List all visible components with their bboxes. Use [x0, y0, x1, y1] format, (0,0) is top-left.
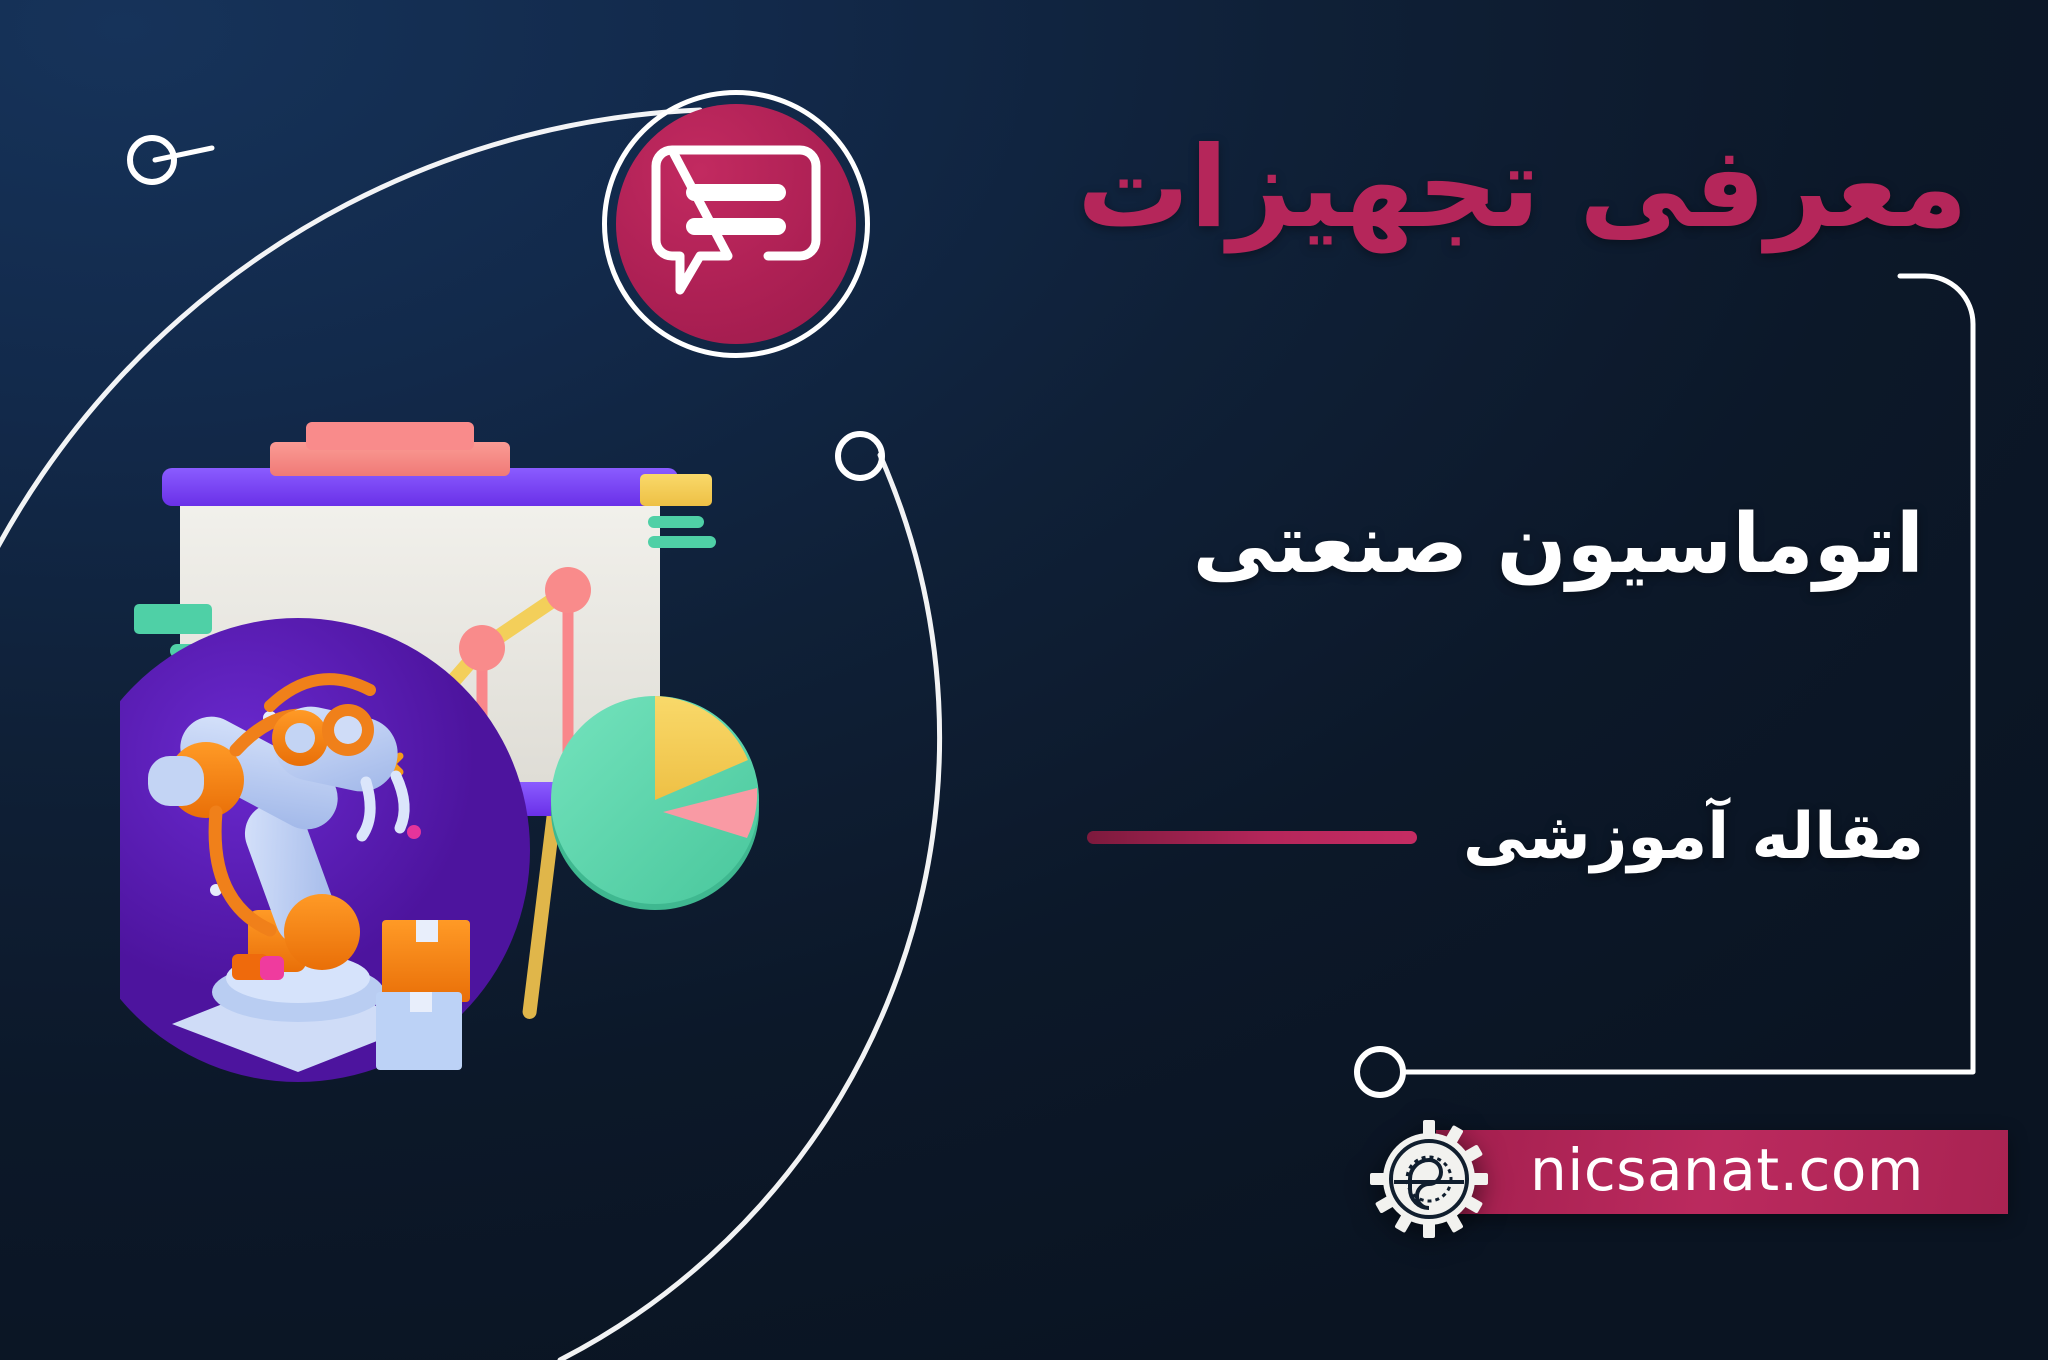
corner-bracket — [1405, 276, 1973, 1072]
page-title: معرفی تجهیزات — [1077, 132, 1968, 244]
kicker-row: مقاله آموزشی — [1087, 800, 1924, 874]
chat-bubble-icon — [650, 140, 822, 308]
kicker-label: مقاله آموزشی — [1463, 800, 1924, 874]
chat-bubble-badge — [616, 104, 856, 344]
industrial-automation-illustration — [120, 420, 880, 1120]
site-url-label: nicsanat.com — [1530, 1136, 1924, 1204]
cardboard-boxes — [376, 920, 470, 1070]
subject-heading: اتوماسیون صنعتی — [1193, 500, 1924, 590]
pie-chart — [551, 696, 759, 910]
bracket-node-bottom — [1357, 1049, 1403, 1095]
arc-node-top-left — [130, 138, 174, 182]
banner-canvas: معرفی تجهیزات اتوماسیون صنعتی مقاله آموز… — [0, 0, 2048, 1360]
chart-point — [459, 625, 505, 671]
gear-logo-icon — [1370, 1120, 1488, 1238]
chart-point — [545, 567, 591, 613]
kicker-rule — [1087, 831, 1417, 844]
arc-node-connector — [155, 148, 212, 160]
